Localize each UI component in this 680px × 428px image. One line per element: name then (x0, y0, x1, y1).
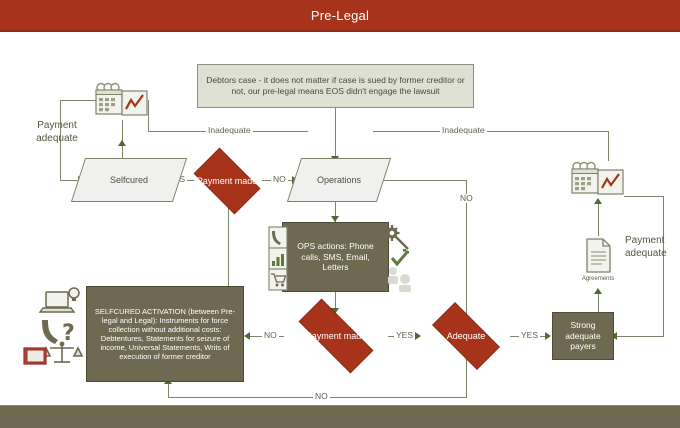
edge-label-inadequate-right: Inadequate (440, 126, 487, 135)
arrowhead-selfcured-to-icons (118, 140, 126, 146)
node-adequate[interactable]: Adequate (421, 313, 511, 359)
connector-payment-adequate-right-top (624, 196, 664, 197)
icon-cluster-right-monitoring (568, 161, 626, 199)
arrowhead-no-to-selfcured-activation (244, 332, 250, 340)
node-strong-adequate-payers[interactable]: Strong adequate payers (552, 312, 614, 360)
edge-label-inadequate-left: Inadequate (206, 126, 253, 135)
node-selfcured-label: Selfcured (110, 175, 148, 185)
node-adequate-label: Adequate (447, 331, 486, 341)
node-selfcured-activation-text: SELFCURED ACTIVATION (between Pre-legal … (92, 307, 238, 362)
icon-strip-ops-channels (268, 226, 288, 292)
connector-inadequate-right-drop (608, 131, 609, 161)
node-selfcured[interactable]: Selfcured (71, 158, 187, 202)
connector-payment-adequate-right-in (615, 336, 664, 337)
label-payment-adequate-left-line2: adequate (22, 133, 92, 146)
node-payment-made-bottom[interactable]: Payment made (284, 313, 388, 359)
arrowhead-yes-to-strong-payers (545, 332, 551, 340)
icon-strip-ops-processing (384, 224, 414, 292)
connector-payment-made-top-down (228, 200, 229, 286)
edge-label-no-bottom-loop: NO (313, 392, 330, 401)
title-bar: Pre-Legal (0, 0, 680, 32)
icon-cluster-left-monitoring (92, 82, 150, 120)
icon-agreements-document: Agreements (580, 236, 616, 284)
node-ops-actions-text: OPS actions: Phone calls, SMS, Email, Le… (288, 241, 383, 272)
node-debtors-case-note-text: Debtors case - it does not matter if cas… (204, 75, 467, 96)
page-title: Pre-Legal (311, 8, 369, 23)
svg-text:?: ? (62, 321, 75, 346)
connector-adequate-no-to-operations (378, 180, 467, 181)
label-payment-adequate-right-line1: Payment (625, 235, 680, 248)
node-payment-made-top[interactable]: Payment made (186, 155, 268, 207)
edge-label-no-operations: NO (271, 175, 288, 184)
connector-inadequate-right (373, 131, 609, 132)
label-payment-adequate-left-line1: Payment (22, 120, 92, 133)
icon-cluster-legal-tools: ? (22, 286, 88, 366)
flowchart-canvas: Pre-Legal (0, 0, 680, 427)
node-operations-label: Operations (317, 175, 361, 185)
edge-label-no-adequate-vertical: NO (458, 194, 475, 203)
connector-bottom-no-drop (466, 357, 467, 397)
label-payment-adequate-left: Payment adequate (22, 120, 92, 145)
node-selfcured-activation[interactable]: SELFCURED ACTIVATION (between Pre-legal … (86, 286, 244, 382)
node-payment-made-bottom-label: Payment made (306, 331, 367, 341)
connector-agreements-to-icons (598, 200, 599, 236)
connector-payment-adequate-right-vert (663, 196, 664, 336)
connector-note-to-operations (335, 108, 336, 160)
edge-label-yes-adequate: YES (519, 331, 540, 340)
connector-bottom-no-riser (168, 382, 169, 398)
node-strong-adequate-payers-label: Strong adequate payers (558, 320, 608, 351)
node-payment-made-top-label: Payment made (197, 176, 258, 186)
icon-agreements-label: Agreements (580, 276, 616, 282)
label-payment-adequate-right-line2: adequate (625, 248, 680, 261)
edge-label-yes-payment-bottom: YES (394, 331, 415, 340)
edge-label-no-payment-bottom: NO (262, 331, 279, 340)
node-ops-actions[interactable]: OPS actions: Phone calls, SMS, Email, Le… (282, 222, 389, 292)
node-debtors-case-note[interactable]: Debtors case - it does not matter if cas… (197, 64, 474, 108)
label-payment-adequate-right: Payment adequate (625, 235, 680, 260)
arrowhead-strong-payers-to-agreements (594, 288, 602, 294)
node-operations[interactable]: Operations (287, 158, 391, 202)
footer-bar (0, 405, 680, 428)
